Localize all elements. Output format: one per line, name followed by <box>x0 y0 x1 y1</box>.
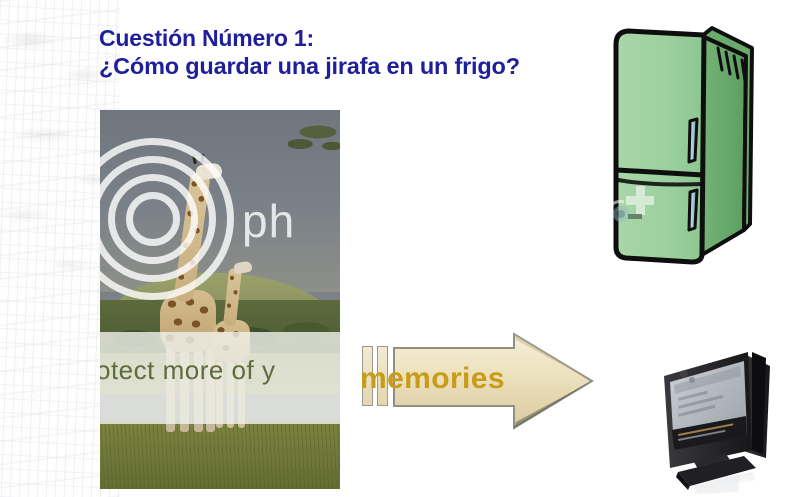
giraffe-neck <box>223 267 242 326</box>
photo-tree <box>288 116 340 166</box>
giraffe-leg <box>216 362 223 428</box>
giraffe-photo: ph otect more of y <box>100 110 340 489</box>
arrow-body-icon <box>392 332 594 430</box>
right-arrow: memories <box>362 332 594 430</box>
fridge-upper-door-handle <box>689 119 697 162</box>
slide-canvas: Cuestión Número 1: ¿Cómo guardar una jir… <box>0 0 791 497</box>
giraffe-head <box>195 162 223 180</box>
page-title: Cuestión Número 1: ¿Cómo guardar una jir… <box>99 24 659 80</box>
giraffe-neck <box>173 171 211 303</box>
giraffe-calf <box>210 268 252 428</box>
giraffe-leg <box>238 362 245 428</box>
arrow-tail-segment <box>377 346 388 406</box>
lcd-monitor-photo <box>648 346 788 494</box>
refrigerator-clipart <box>594 18 784 268</box>
title-line-2: ¿Cómo guardar una jirafa en un frigo? <box>99 52 659 80</box>
arrow-tail-segment <box>362 346 373 406</box>
giraffe-body <box>212 320 250 362</box>
giraffe-leg <box>227 362 234 428</box>
giraffe-head <box>233 261 253 275</box>
fridge-lower-door-handle <box>689 190 697 230</box>
fridge-side-panel <box>700 28 752 256</box>
title-line-1: Cuestión Número 1: <box>99 24 659 52</box>
